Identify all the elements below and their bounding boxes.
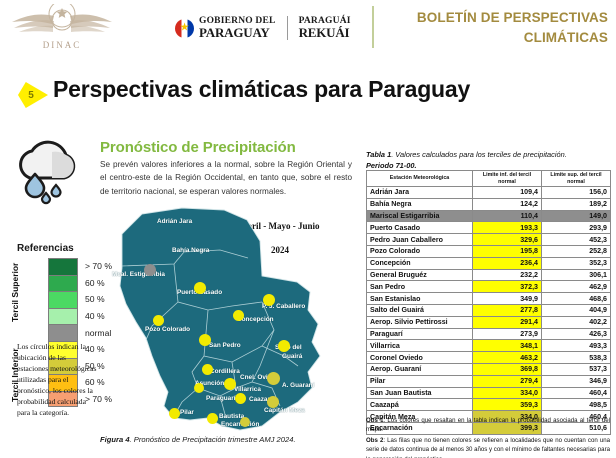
map-location-label: Capitán Meza — [264, 407, 305, 414]
cell-upper-limit: 156,0 — [542, 187, 611, 199]
cell-upper-limit: 460,4 — [542, 387, 611, 399]
col-header-lower-limit: Limite inf. del tercil normal — [473, 171, 542, 187]
legend-label: 60 % — [85, 278, 105, 288]
cell-lower-limit: 195,8 — [473, 245, 542, 257]
gov-text-gn: PARAGUÁI REKUÁI — [299, 17, 351, 40]
rain-cloud-icon — [8, 134, 90, 206]
cell-upper-limit: 402,2 — [542, 316, 611, 328]
legend-tercil-superior-label: Tercil Superior — [10, 259, 20, 325]
cell-station: Pozo Colorado — [367, 245, 473, 257]
dinac-wings-icon — [6, 4, 118, 44]
map-station-marker[interactable] — [267, 396, 279, 408]
map-location-label: Cordillera — [210, 368, 240, 375]
government-logo: ★ GOBIERNO DEL PARAGUAY PARAGUÁI REKUÁI — [175, 12, 351, 44]
observation-1-label: Obs 1 — [366, 417, 383, 424]
table-row[interactable]: Aerop. Silvio Pettirossi291,4402,2 — [367, 316, 611, 328]
cell-upper-limit: 293,9 — [542, 222, 611, 234]
cell-lower-limit: 277,8 — [473, 304, 542, 316]
map-station-marker[interactable] — [169, 408, 180, 419]
col-header-upper-limit: Limite sup. del tercil normal — [542, 171, 611, 187]
table-header-row: Estación Meteorológica Limite inf. del t… — [367, 171, 611, 187]
table-row[interactable]: Paraguarí273,9426,3 — [367, 328, 611, 340]
cell-upper-limit: 346,9 — [542, 375, 611, 387]
observation-2: Obs 2: Las filas que no tienen colores s… — [366, 436, 610, 458]
cell-lower-limit: 273,9 — [473, 328, 542, 340]
table-row[interactable]: Salto del Guairá277,8404,9 — [367, 304, 611, 316]
table-row[interactable]: Pedro Juan Caballero329,6452,3 — [367, 234, 611, 246]
table-observations: Obs 1: Los colores que resaltan en la ta… — [366, 416, 610, 458]
cell-station: Concepción — [367, 257, 473, 269]
legend-swatch — [48, 308, 78, 325]
header-divider — [372, 6, 374, 48]
cell-station: Coronel Oviedo — [367, 352, 473, 364]
gov-line-2: PARAGUAY — [199, 26, 276, 39]
map-station-marker[interactable] — [224, 378, 236, 390]
figure-caption: Figura 4. Pronóstico de Precipitación tr… — [100, 435, 296, 444]
map-station-marker[interactable] — [233, 310, 244, 321]
cell-lower-limit: 334,0 — [473, 387, 542, 399]
gov-text-es: GOBIERNO DEL PARAGUAY — [199, 17, 276, 40]
cell-lower-limit: 232,2 — [473, 269, 542, 281]
legend-label: 50 % — [85, 294, 105, 304]
legend-swatch — [48, 324, 78, 341]
paraguay-forecast-map[interactable]: Adrián JaraBahía NegraMcal. Estigarribia… — [112, 206, 357, 434]
map-station-marker[interactable] — [263, 294, 275, 306]
cell-station: Caazapá — [367, 399, 473, 411]
cell-station: Aerop. Guaraní — [367, 363, 473, 375]
table-row[interactable]: General Bruguéz232,2306,1 — [367, 269, 611, 281]
map-location-label: San Pedro — [209, 342, 241, 349]
table-row[interactable]: Adrián Jara109,4156,0 — [367, 187, 611, 199]
cell-lower-limit: 110,4 — [473, 210, 542, 222]
cell-lower-limit: 236,4 — [473, 257, 542, 269]
cell-station: San Juan Bautista — [367, 387, 473, 399]
cell-upper-limit: 537,3 — [542, 363, 611, 375]
cell-station: Mariscal Estigarribia — [367, 210, 473, 222]
legend-swatch — [48, 291, 78, 308]
map-station-marker[interactable] — [194, 282, 206, 294]
cell-upper-limit: 352,3 — [542, 257, 611, 269]
table-row[interactable]: Puerto Casado193,3293,9 — [367, 222, 611, 234]
cell-lower-limit: 193,3 — [473, 222, 542, 234]
map-station-marker[interactable] — [235, 393, 246, 404]
cell-lower-limit: 291,4 — [473, 316, 542, 328]
observation-2-label: Obs 2 — [366, 437, 383, 444]
cell-lower-limit: 369,8 — [473, 363, 542, 375]
cell-station: San Estanislao — [367, 293, 473, 305]
table-caption: Tabla 1. Valores calculados para los ter… — [366, 149, 610, 171]
cell-lower-limit: 329,6 — [473, 234, 542, 246]
cell-upper-limit: 468,6 — [542, 293, 611, 305]
forecast-body-text: Se prevén valores inferiores a la normal… — [100, 158, 352, 198]
cell-upper-limit: 149,0 — [542, 210, 611, 222]
map-station-marker[interactable] — [207, 413, 218, 424]
legend-label: normal — [85, 328, 111, 338]
table-row[interactable]: San Estanislao349,9468,6 — [367, 293, 611, 305]
cell-upper-limit: 189,2 — [542, 198, 611, 210]
star-icon: ★ — [180, 23, 190, 34]
forecast-heading: Pronóstico de Precipitación — [100, 139, 296, 156]
table-caption-period: Periodo 71-00. — [366, 161, 417, 170]
section-title-row: 5 Perspectivas climáticas para Paraguay — [0, 74, 616, 116]
cell-upper-limit: 306,1 — [542, 269, 611, 281]
map-station-marker[interactable] — [267, 372, 280, 385]
paraguay-flag-icon: ★ — [175, 19, 194, 38]
map-station-marker[interactable] — [240, 417, 250, 427]
observation-1-text: : Los colores que resaltan en la tabla i… — [366, 417, 610, 433]
cell-upper-limit: 426,3 — [542, 328, 611, 340]
map-location-label: Paraguarí — [206, 395, 235, 402]
cell-station: General Bruguéz — [367, 269, 473, 281]
map-location-label: Guairá — [282, 353, 302, 360]
cell-station: Salto del Guairá — [367, 304, 473, 316]
map-location-label: Pozo Colorado — [145, 326, 190, 333]
table-row[interactable]: Mariscal Estigarribia110,4149,0 — [367, 210, 611, 222]
table-row[interactable]: Aerop. Guaraní369,8537,3 — [367, 363, 611, 375]
legend-label: 40 % — [85, 311, 105, 321]
map-location-label: Adrián Jara — [157, 218, 192, 225]
bulletin-page: DINAC ★ GOBIERNO DEL PARAGUAY PARAGUÁI R… — [0, 0, 616, 458]
cell-upper-limit: 452,3 — [542, 234, 611, 246]
logo-divider — [287, 16, 288, 40]
section-number: 5 — [28, 90, 34, 101]
map-location-label: Mcal. Estigarribia — [112, 271, 165, 278]
table-row[interactable]: San Pedro372,3462,9 — [367, 281, 611, 293]
cell-lower-limit: 109,4 — [473, 187, 542, 199]
map-station-marker[interactable] — [278, 340, 290, 352]
map-location-label: Pilar — [180, 409, 194, 416]
cell-lower-limit: 359,3 — [473, 399, 542, 411]
cell-upper-limit: 462,9 — [542, 281, 611, 293]
cell-lower-limit: 463,2 — [473, 352, 542, 364]
table-row[interactable]: Pozo Colorado195,8252,8 — [367, 245, 611, 257]
map-station-marker[interactable] — [194, 383, 204, 393]
legend-label: > 70 % — [85, 261, 112, 271]
cell-station: Adrián Jara — [367, 187, 473, 199]
terciles-table[interactable]: Estación Meteorológica Limite inf. del t… — [366, 170, 611, 435]
table-row[interactable]: San Juan Bautista334,0460,4 — [367, 387, 611, 399]
map-station-marker[interactable] — [153, 315, 164, 326]
map-location-label: Bahía Negra — [172, 247, 209, 254]
page-header: DINAC ★ GOBIERNO DEL PARAGUAY PARAGUÁI R… — [0, 0, 616, 58]
figure-caption-bold: Figura 4 — [100, 435, 130, 444]
cell-station: Paraguarí — [367, 328, 473, 340]
cell-lower-limit: 348,1 — [473, 340, 542, 352]
figure-caption-rest: . Pronóstico de Precipitación trimestre … — [130, 435, 296, 444]
cell-lower-limit: 124,2 — [473, 198, 542, 210]
table-row[interactable]: Coronel Oviedo463,2538,3 — [367, 352, 611, 364]
table-row[interactable]: Pilar279,4346,9 — [367, 375, 611, 387]
cell-lower-limit: 349,9 — [473, 293, 542, 305]
table-caption-rest: . Valores calculados para los terciles d… — [391, 150, 567, 159]
table-row[interactable]: Villarrica348,1493,3 — [367, 340, 611, 352]
legend-title: Referencias — [17, 243, 74, 254]
cell-station: Villarrica — [367, 340, 473, 352]
page-title: Perspectivas climáticas para Paraguay — [53, 76, 470, 103]
map-location-label: Villarrica — [234, 386, 261, 393]
cell-station: Pilar — [367, 375, 473, 387]
cell-station: Puerto Casado — [367, 222, 473, 234]
map-station-marker[interactable] — [144, 264, 156, 276]
map-circles-note: Los círculos indican la ubicación de las… — [17, 341, 99, 418]
gov-line-2-gn: REKUÁI — [299, 26, 351, 39]
cell-station: Bahía Negra — [367, 198, 473, 210]
section-number-badge: 5 — [18, 82, 48, 108]
map-station-marker[interactable] — [202, 364, 213, 375]
bulletin-title: BOLETÍN DE PERSPECTIVAS CLIMÁTICAS — [386, 8, 608, 47]
cell-upper-limit: 252,8 — [542, 245, 611, 257]
observation-2-text: : Las filas que no tienen colores se ref… — [366, 437, 610, 458]
cell-station: Pedro Juan Caballero — [367, 234, 473, 246]
dinac-wordmark: DINAC — [6, 40, 118, 50]
map-location-label: A. Guaraní — [282, 382, 314, 389]
cell-lower-limit: 372,3 — [473, 281, 542, 293]
table-row[interactable]: Concepción236,4352,3 — [367, 257, 611, 269]
cell-station: Aerop. Silvio Pettirossi — [367, 316, 473, 328]
table-body: Adrián Jara109,4156,0Bahía Negra124,2189… — [367, 187, 611, 435]
table-row[interactable]: Bahía Negra124,2189,2 — [367, 198, 611, 210]
col-header-station: Estación Meteorológica — [367, 171, 473, 187]
legend-swatch — [48, 258, 78, 275]
table-caption-bold: Tabla 1 — [366, 150, 391, 159]
legend-swatch — [48, 275, 78, 292]
cell-lower-limit: 279,4 — [473, 375, 542, 387]
map-station-marker[interactable] — [199, 334, 211, 346]
cell-upper-limit: 498,5 — [542, 399, 611, 411]
cell-upper-limit: 538,3 — [542, 352, 611, 364]
cell-upper-limit: 404,9 — [542, 304, 611, 316]
dinac-logo: DINAC — [6, 4, 118, 56]
observation-1: Obs 1: Los colores que resaltan en la ta… — [366, 416, 610, 435]
table-row[interactable]: Caazapá359,3498,5 — [367, 399, 611, 411]
cell-station: San Pedro — [367, 281, 473, 293]
cell-upper-limit: 493,3 — [542, 340, 611, 352]
